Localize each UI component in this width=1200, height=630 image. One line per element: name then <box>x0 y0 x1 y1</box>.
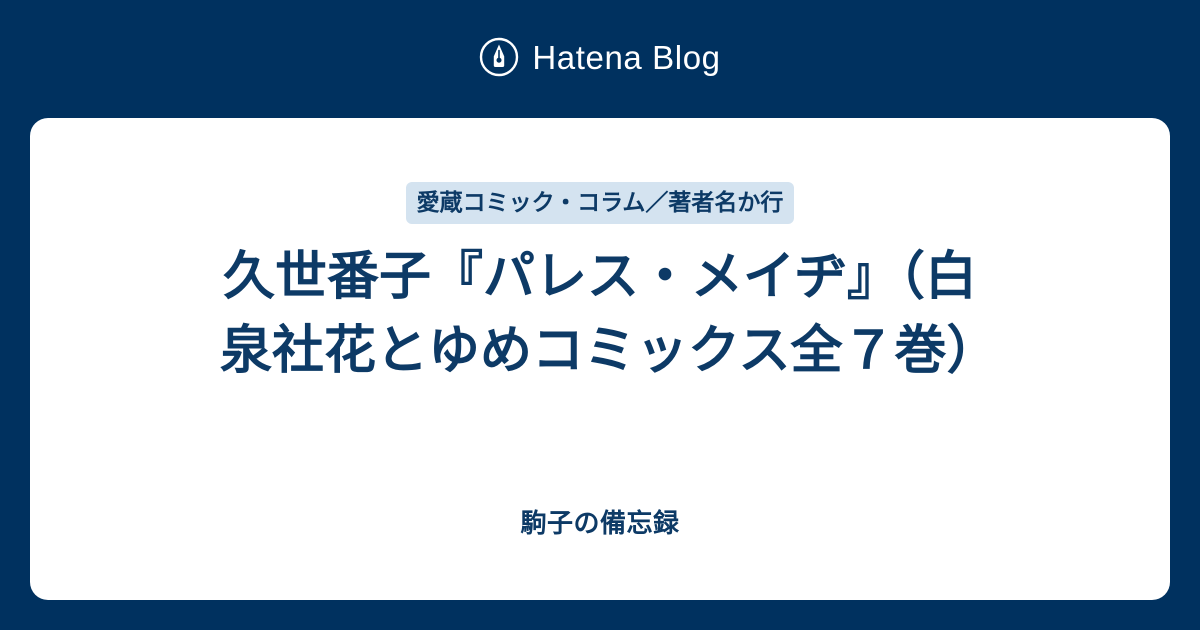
hatena-pen-nib-icon <box>479 37 519 77</box>
ogp-card: Hatena Blog 愛蔵コミック・コラム／著者名か行 久世番子『パレス・メイ… <box>0 0 1200 630</box>
site-header-title: Hatena Blog <box>532 41 720 74</box>
category-tag[interactable]: 愛蔵コミック・コラム／著者名か行 <box>406 182 795 224</box>
entry-title: 久世番子『パレス・メイヂ』（白泉社花とゆめコミックス全７巻） <box>220 240 980 388</box>
site-header: Hatena Blog <box>0 0 1200 118</box>
blog-name[interactable]: 駒子の備忘録 <box>30 510 1170 536</box>
entry-card: 愛蔵コミック・コラム／著者名か行 久世番子『パレス・メイヂ』（白泉社花とゆめコミ… <box>30 118 1170 600</box>
